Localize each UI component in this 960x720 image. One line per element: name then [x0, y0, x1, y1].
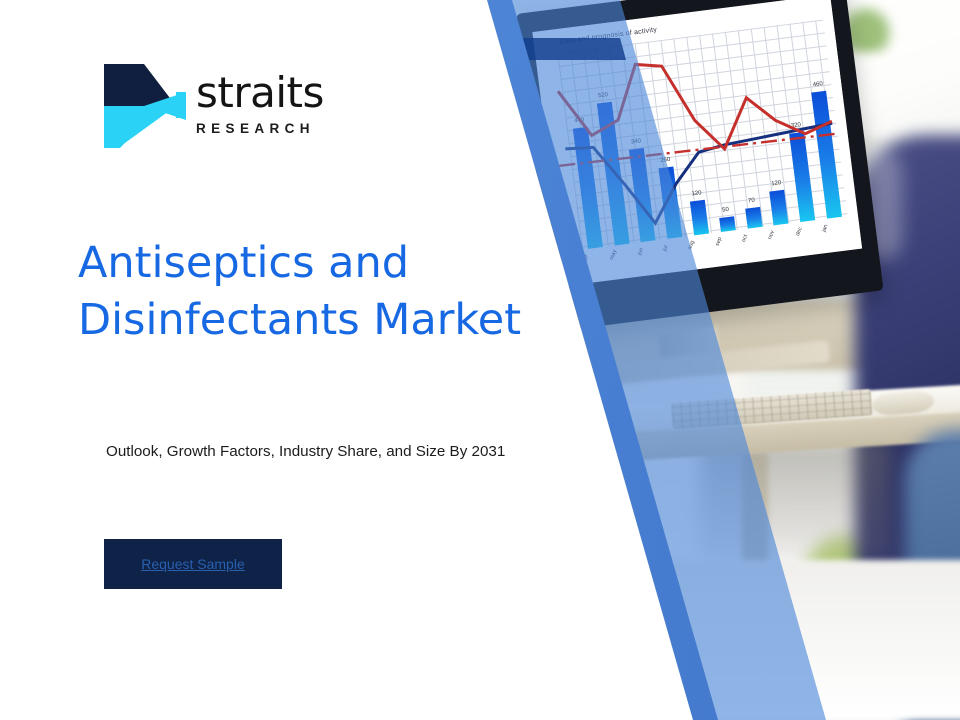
monitor: Data and prognosis of activity 440 520 3… — [516, 0, 884, 331]
screen-chart: Data and prognosis of activity 440 520 3… — [532, 0, 862, 286]
chair — [700, 440, 890, 560]
axis-label: may — [609, 249, 641, 269]
slide-root: Data and prognosis of activity 440 520 3… — [0, 0, 960, 720]
axis-label: apr — [582, 254, 613, 272]
axis-label: jan — [822, 224, 853, 242]
axis-label: nov — [767, 230, 798, 249]
monitor-screen: Data and prognosis of activity 440 520 3… — [532, 0, 862, 286]
logo-name: straits — [196, 72, 324, 114]
logo-tagline: RESEARCH — [196, 121, 324, 136]
request-sample-label: Request Sample — [141, 556, 245, 572]
request-sample-button[interactable]: Request Sample — [104, 539, 282, 589]
brand-logo[interactable]: straits RESEARCH — [100, 62, 400, 154]
logo-wordmark: straits RESEARCH — [196, 72, 324, 136]
floor — [487, 560, 960, 720]
chevron-arrow-icon — [100, 62, 186, 150]
page-subtitle: Outlook, Growth Factors, Industry Share,… — [106, 440, 556, 464]
page-title: Antiseptics and Disinfectants Market — [78, 235, 548, 349]
